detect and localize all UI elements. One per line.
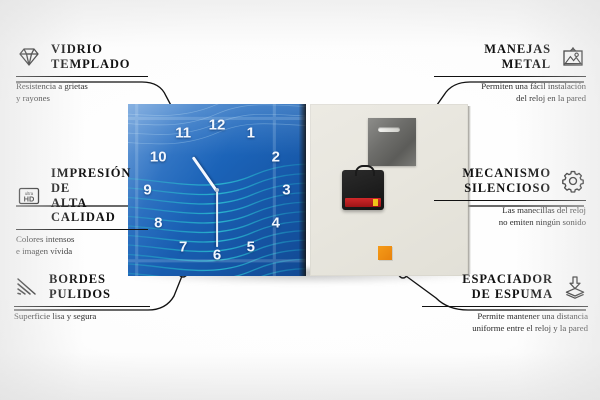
clock-numeral-6: 6 (213, 248, 221, 263)
clock-numeral-7: 7 (179, 239, 187, 254)
ultra-hd-icon: ultra HD (16, 183, 42, 209)
callout-spacer: ESPACIADOR DE ESPUMA Permite mantener un… (422, 272, 588, 334)
clock-numeral-12: 12 (209, 117, 226, 132)
clock-numeral-3: 3 (282, 183, 290, 198)
callout-edges-header: BORDES PULIDOS (14, 272, 150, 302)
clock-minute-hand (216, 191, 218, 247)
glass-edge (299, 104, 306, 276)
clock-numeral-5: 5 (247, 239, 255, 254)
clock-numeral-1: 1 (247, 126, 255, 141)
clock-numeral-2: 2 (272, 150, 280, 165)
callout-handles-header: MANEJAS METAL (434, 42, 586, 72)
polished-edges-icon (14, 274, 40, 300)
callout-print-header: ultra HD IMPRESIÓN DE ALTA CALIDAD (16, 166, 148, 225)
clock-numeral-4: 4 (272, 215, 280, 230)
callout-mechanism-title: MECANISMO SILENCIOSO (462, 166, 551, 196)
callout-edges: BORDES PULIDOS Superficie lisa y segura (14, 272, 150, 323)
clock-numeral-8: 8 (154, 215, 162, 230)
metal-hanger-plate (368, 118, 416, 166)
svg-text:HD: HD (24, 194, 35, 203)
diamond-icon (16, 44, 42, 70)
callout-handles-title: MANEJAS METAL (484, 42, 551, 72)
callout-print-title: IMPRESIÓN DE ALTA CALIDAD (51, 166, 148, 225)
callout-spacer-subtitle: Permite mantener una distancia uniforme … (422, 311, 588, 335)
product-image: 12 1 2 3 4 5 6 7 8 9 10 11 (128, 104, 468, 276)
foam-spacer-pad (378, 246, 392, 260)
clock-numeral-11: 11 (175, 126, 191, 141)
callout-spacer-header: ESPACIADOR DE ESPUMA (422, 272, 588, 302)
gear-icon (560, 168, 586, 194)
callout-mechanism-subtitle: Las manecillas del reloj no emiten ningú… (434, 205, 586, 229)
picture-frame-icon (560, 44, 586, 70)
callout-mechanism-rule (434, 200, 586, 201)
callout-edges-title: BORDES PULIDOS (49, 272, 111, 302)
callout-spacer-title: ESPACIADOR DE ESPUMA (462, 272, 553, 302)
callout-edges-rule (14, 306, 150, 307)
infographic-canvas: 12 1 2 3 4 5 6 7 8 9 10 11 (0, 0, 600, 400)
movement-hanging-loop (355, 165, 375, 176)
callout-glass-rule (16, 76, 148, 77)
callout-glass-header: VIDRIO TEMPLADO (16, 42, 148, 72)
clock-movement (342, 170, 384, 210)
callout-handles: MANEJAS METAL Permiten una fácil instala… (434, 42, 586, 104)
callout-handles-rule (434, 76, 586, 77)
callout-spacer-rule (422, 306, 588, 307)
callout-glass: VIDRIO TEMPLADO Resistencia a grietas y … (16, 42, 148, 104)
movement-label-mark (373, 199, 378, 206)
clock-numeral-10: 10 (150, 150, 167, 165)
callout-print-rule (16, 229, 148, 230)
callout-print: ultra HD IMPRESIÓN DE ALTA CALIDAD Color… (16, 166, 148, 258)
callout-glass-subtitle: Resistencia a grietas y rayones (16, 81, 148, 105)
foam-spacer-icon (562, 274, 588, 300)
callout-handles-subtitle: Permiten una fácil instalación del reloj… (434, 81, 586, 105)
hanger-slot (378, 127, 400, 132)
callout-print-subtitle: Colores intensos e imagen vívida (16, 234, 148, 258)
callout-mechanism-header: MECANISMO SILENCIOSO (434, 166, 586, 196)
clock-center-pin (215, 188, 219, 192)
callout-glass-title: VIDRIO TEMPLADO (51, 42, 130, 72)
callout-edges-subtitle: Superficie lisa y segura (14, 311, 150, 323)
callout-mechanism: MECANISMO SILENCIOSO Las manecillas del … (434, 166, 586, 228)
movement-label (345, 198, 381, 207)
clock-face-panel: 12 1 2 3 4 5 6 7 8 9 10 11 (128, 104, 306, 276)
